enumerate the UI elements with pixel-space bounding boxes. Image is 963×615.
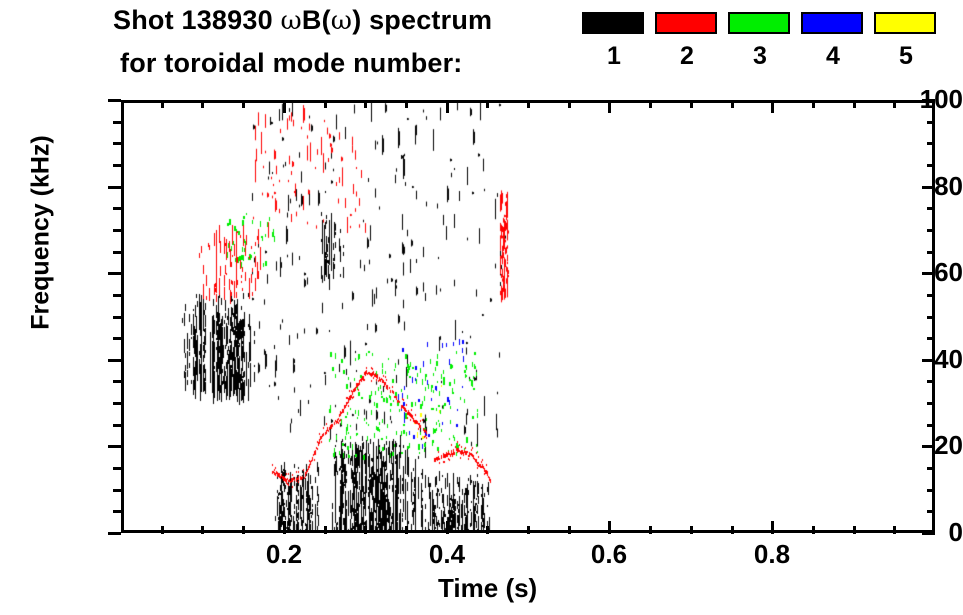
y-tick-minor-right (927, 316, 935, 319)
y-tick-minor-right (927, 294, 935, 297)
x-tick-minor (161, 526, 164, 534)
y-tick-label-80: 80 (855, 173, 963, 199)
y-tick-minor-right (927, 380, 935, 383)
y-tick-minor-right (927, 142, 935, 145)
y-tick-minor (113, 251, 121, 254)
plot-area (124, 103, 932, 530)
y-tick-minor-right (927, 424, 935, 427)
x-tick-minor (893, 526, 896, 534)
legend: 12345 (575, 12, 955, 90)
y-tick-minor (113, 489, 121, 492)
y-tick-major-0 (108, 532, 121, 535)
omega-symbol-2: ω (331, 6, 352, 36)
x-tick-minor-top (324, 100, 327, 108)
x-tick-label-0.8: 0.8 (727, 540, 817, 568)
spectrogram-canvas (124, 103, 932, 530)
y-tick-major-100 (108, 99, 121, 102)
y-tick-minor-right (927, 489, 935, 492)
x-tick-minor-top (201, 100, 204, 108)
x-tick-minor (242, 526, 245, 534)
x-tick-minor (324, 526, 327, 534)
y-tick-minor (113, 380, 121, 383)
y-tick-minor (113, 164, 121, 167)
y-tick-minor (113, 424, 121, 427)
x-tick-minor-top (405, 100, 408, 108)
figure-title-line-1: Shot 138930 ωB(ω) spectrum (113, 5, 492, 36)
x-tick-minor-top (690, 100, 693, 108)
x-tick-minor (812, 526, 815, 534)
x-tick-label-0.2: 0.2 (239, 540, 329, 568)
y-tick-minor-right (927, 229, 935, 232)
legend-item-5[interactable]: 5 (874, 12, 938, 69)
x-tick-label-0.6: 0.6 (564, 540, 654, 568)
legend-label-5: 5 (874, 43, 938, 69)
x-tick-minor (201, 526, 204, 534)
legend-item-4[interactable]: 4 (801, 12, 865, 69)
y-tick-label-0: 0 (855, 519, 963, 545)
x-tick-major-top-0.4 (446, 100, 449, 113)
y-tick-major-40 (108, 359, 121, 362)
y-tick-minor-right (927, 121, 935, 124)
x-tick-minor-top (649, 100, 652, 108)
y-tick-minor-right (927, 337, 935, 340)
spectrogram-figure: Shot 138930 ωB(ω) spectrum for toroidal … (0, 0, 963, 615)
y-axis-title: Frequency (kHz) (27, 108, 56, 358)
x-tick-major-top-0.2 (283, 100, 286, 113)
y-tick-minor (113, 402, 121, 405)
x-tick-major-top-0.8 (771, 100, 774, 113)
x-tick-minor-top (853, 100, 856, 108)
x-tick-minor-top (242, 100, 245, 108)
x-tick-minor-top (364, 100, 367, 108)
x-tick-minor-top (161, 100, 164, 108)
y-tick-minor (113, 337, 121, 340)
legend-swatch-5 (874, 12, 936, 34)
x-tick-minor (486, 526, 489, 534)
figure-title-line-2: for toroidal mode number: (120, 48, 463, 79)
x-axis-title: Time (s) (438, 573, 537, 604)
y-tick-minor (113, 510, 121, 513)
legend-label-1: 1 (582, 43, 646, 69)
x-tick-label-0.4: 0.4 (402, 540, 492, 568)
omega-symbol-1: ω (281, 6, 302, 36)
x-tick-minor-top (486, 100, 489, 108)
legend-label-2: 2 (655, 43, 719, 69)
x-tick-minor-top (731, 100, 734, 108)
x-tick-major-0.8 (771, 521, 774, 534)
x-tick-minor (731, 526, 734, 534)
x-tick-minor (568, 526, 571, 534)
y-tick-minor (113, 229, 121, 232)
y-tick-major-80 (108, 186, 121, 189)
legend-label-4: 4 (801, 43, 865, 69)
y-tick-major-60 (108, 272, 121, 275)
x-tick-minor (364, 526, 367, 534)
y-tick-minor-right (927, 164, 935, 167)
x-tick-minor-top (812, 100, 815, 108)
y-tick-major-20 (108, 445, 121, 448)
legend-swatch-4 (801, 12, 863, 34)
y-tick-label-100: 100 (855, 86, 963, 112)
y-tick-minor (113, 467, 121, 470)
x-tick-minor (690, 526, 693, 534)
y-tick-label-60: 60 (855, 259, 963, 285)
legend-label-3: 3 (728, 43, 792, 69)
y-tick-minor (113, 294, 121, 297)
x-tick-minor-top (527, 100, 530, 108)
x-tick-major-top-0.6 (608, 100, 611, 113)
legend-item-2[interactable]: 2 (655, 12, 719, 69)
legend-swatch-3 (728, 12, 790, 34)
legend-item-3[interactable]: 3 (728, 12, 792, 69)
y-tick-minor (113, 142, 121, 145)
y-tick-minor-right (927, 510, 935, 513)
y-tick-minor-right (927, 251, 935, 254)
x-tick-major-0.4 (446, 521, 449, 534)
title-suffix: ) spectrum (352, 5, 492, 35)
y-tick-minor (113, 316, 121, 319)
legend-swatch-2 (655, 12, 717, 34)
x-tick-minor-top (893, 100, 896, 108)
x-tick-minor (405, 526, 408, 534)
x-tick-minor (649, 526, 652, 534)
x-tick-minor-top (568, 100, 571, 108)
y-tick-minor-right (927, 467, 935, 470)
x-tick-minor (853, 526, 856, 534)
y-tick-minor-right (927, 207, 935, 210)
x-tick-major-0.6 (608, 521, 611, 534)
y-tick-minor (113, 207, 121, 210)
legend-swatch-1 (582, 12, 644, 34)
title-prefix: Shot 138930 (113, 5, 281, 35)
title-mid: B( (302, 5, 331, 35)
y-tick-label-20: 20 (855, 432, 963, 458)
y-tick-minor (113, 121, 121, 124)
y-tick-label-40: 40 (855, 346, 963, 372)
x-tick-minor (527, 526, 530, 534)
legend-item-1[interactable]: 1 (582, 12, 646, 69)
x-tick-major-0.2 (283, 521, 286, 534)
y-tick-minor-right (927, 402, 935, 405)
